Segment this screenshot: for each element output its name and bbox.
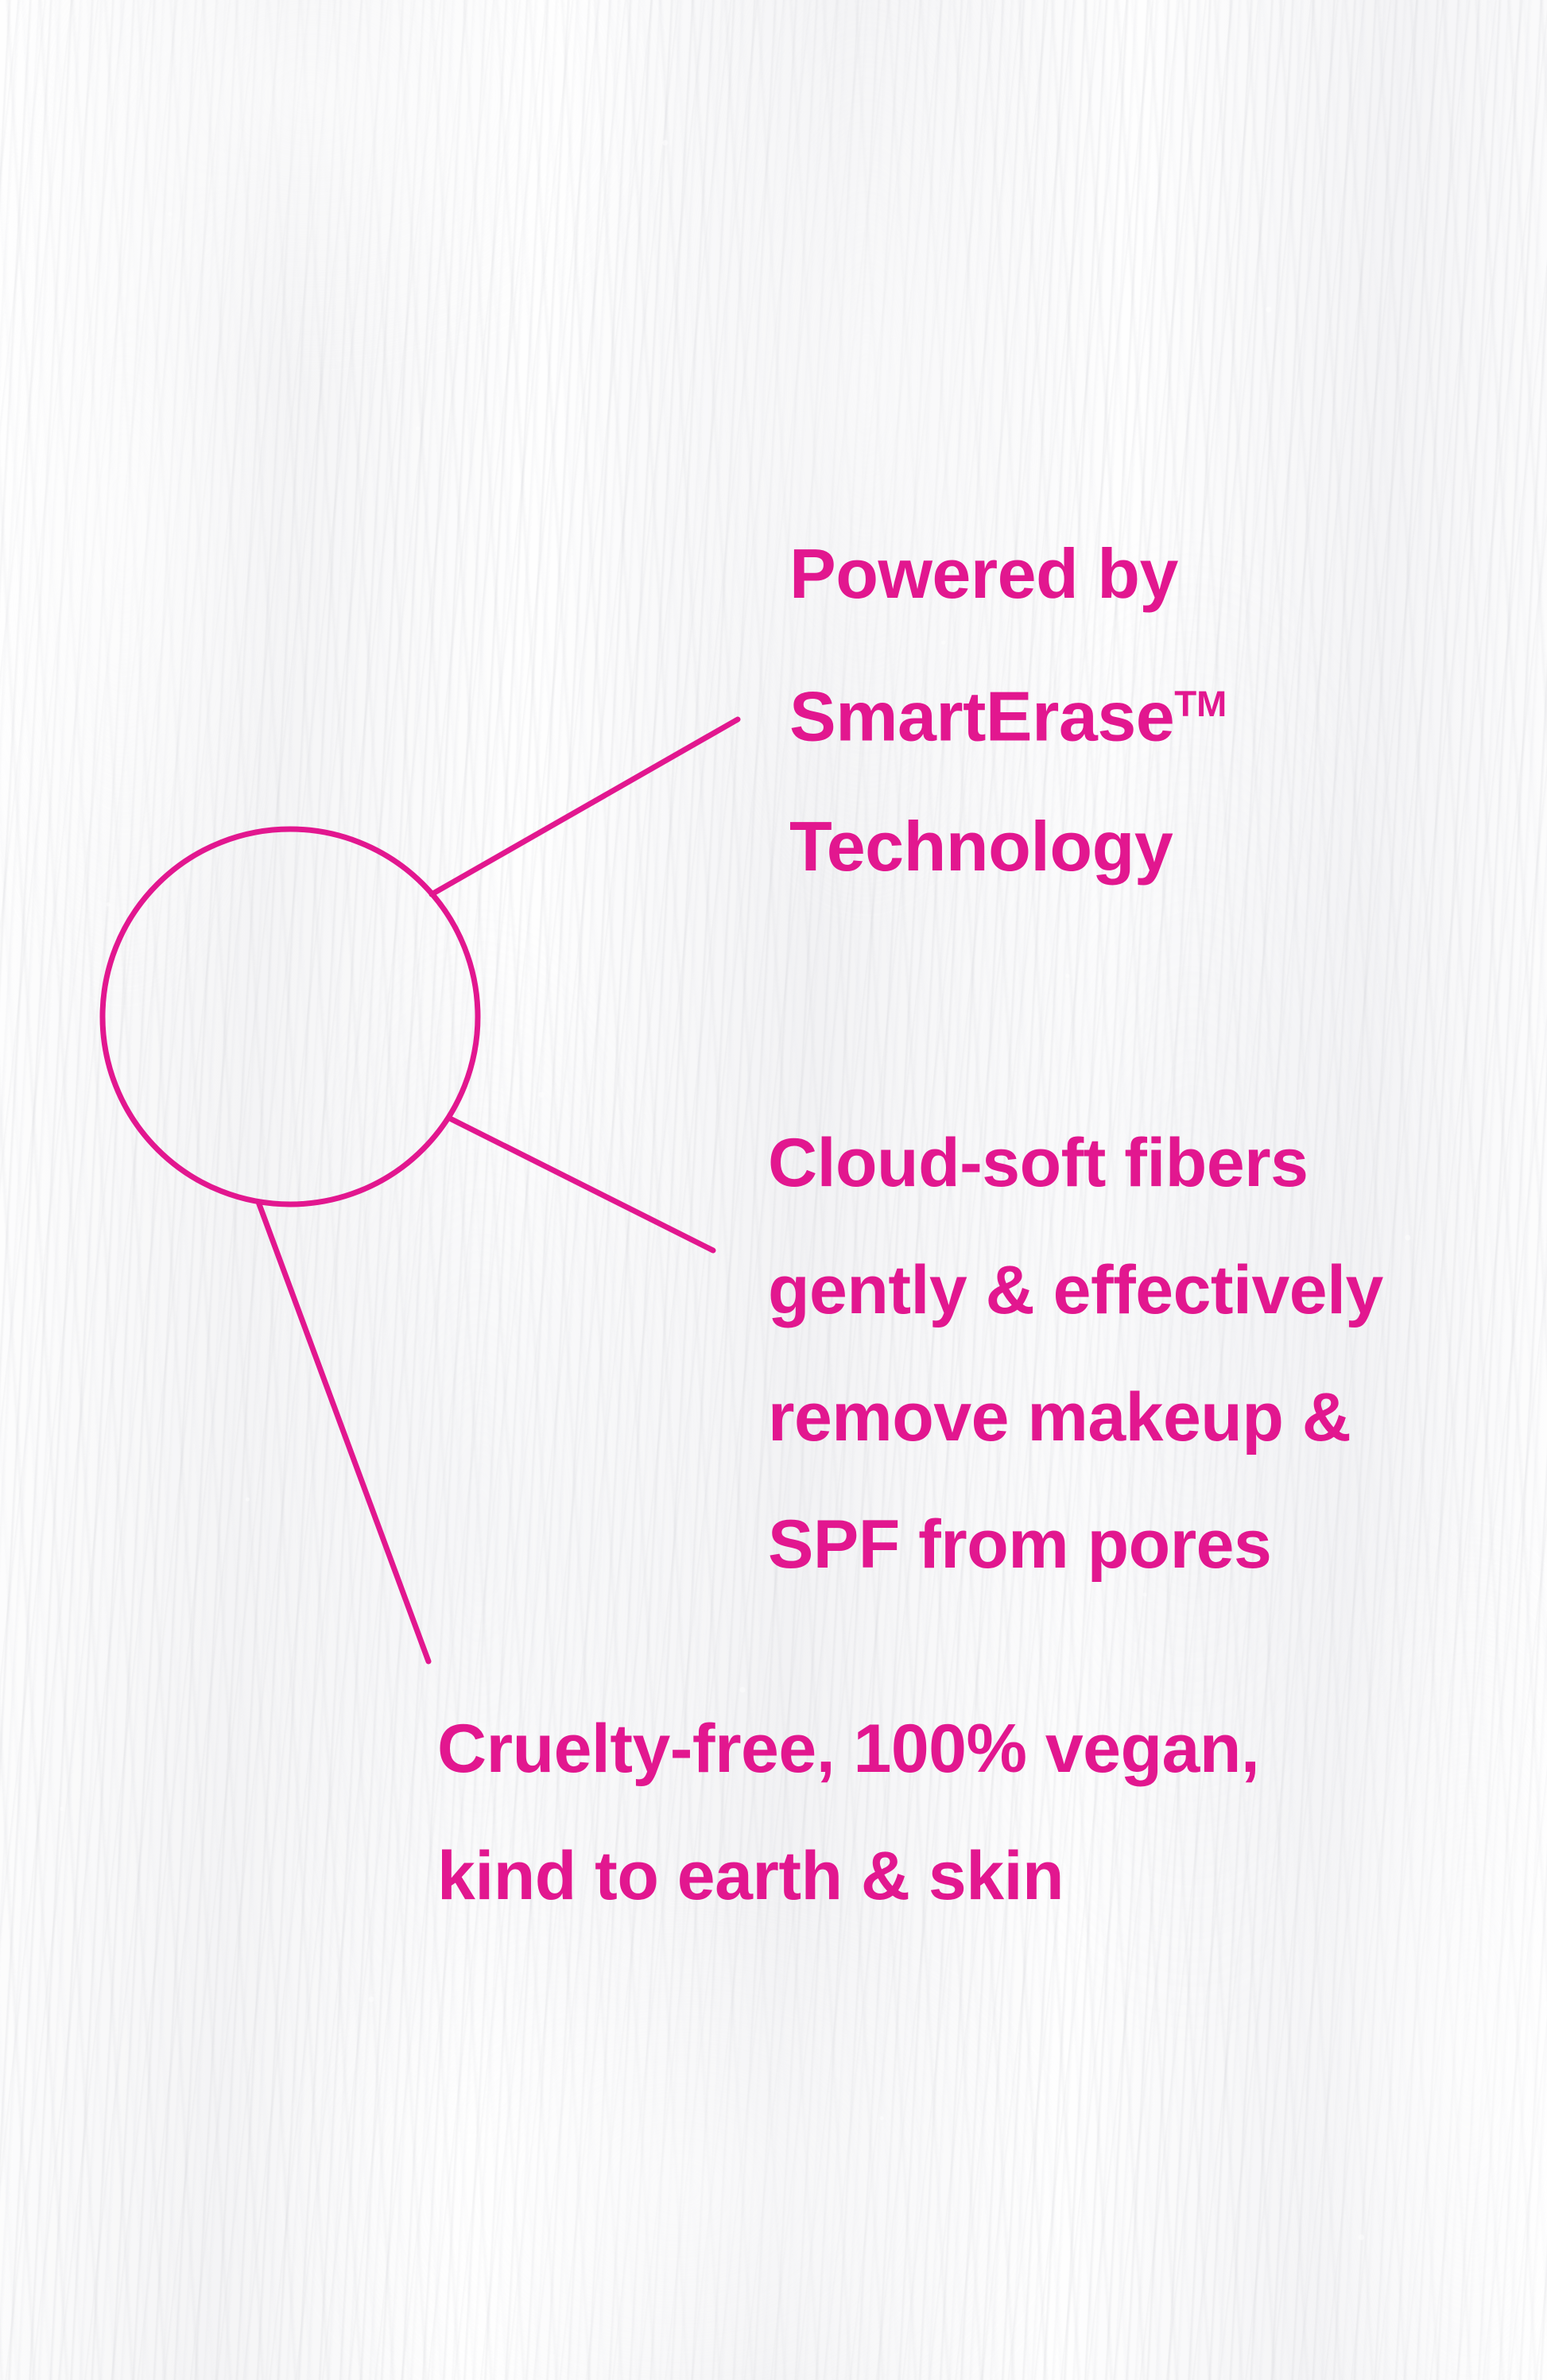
callout-fibers: Cloud-soft fibers gently & effectively r… [768,1099,1383,1608]
product-feature-callout-graphic: Powered by SmartEraseTM Technology Cloud… [0,0,1547,2380]
callout-technology-text-part-2: Technology [789,807,1173,886]
callout-technology-text-part-1: Powered by SmartErase [789,534,1178,755]
callout-cruelty-free: Cruelty-free, 100% vegan, kind to earth … [437,1685,1259,1940]
trademark-symbol: TM [1174,684,1227,724]
callout-technology: Powered by SmartEraseTM Technology [789,509,1227,912]
